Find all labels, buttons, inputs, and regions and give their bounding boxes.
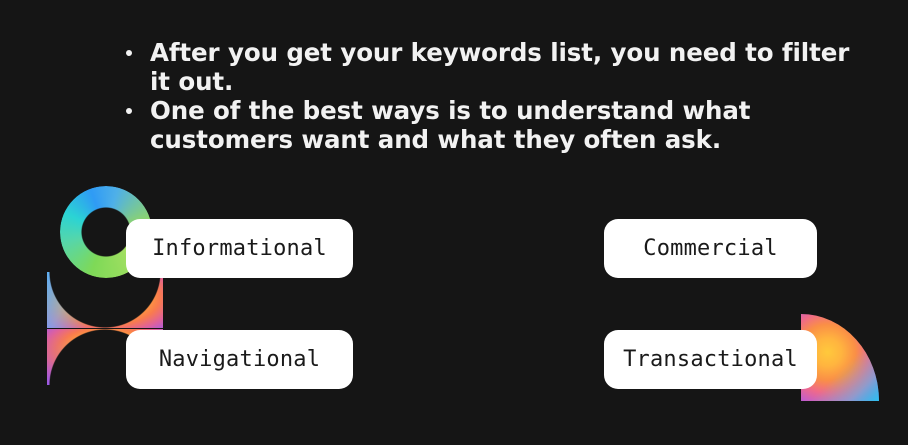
card-transactional-label: Transactional: [623, 347, 798, 372]
card-informational[interactable]: Informational: [126, 219, 353, 278]
card-transactional[interactable]: Transactional: [604, 330, 817, 389]
card-commercial[interactable]: Commercial: [604, 219, 817, 278]
card-informational-label: Informational: [152, 236, 327, 261]
card-navigational-label: Navigational: [159, 347, 320, 372]
bullet-list: After you get your keywords list, you ne…: [118, 38, 858, 154]
card-navigational[interactable]: Navigational: [126, 330, 353, 389]
list-item: One of the best ways is to understand wh…: [118, 96, 858, 154]
card-commercial-label: Commercial: [643, 236, 777, 261]
slide-canvas: After you get your keywords list, you ne…: [0, 0, 908, 445]
list-item: After you get your keywords list, you ne…: [118, 38, 858, 96]
hourglass-top-half: [47, 272, 163, 328]
